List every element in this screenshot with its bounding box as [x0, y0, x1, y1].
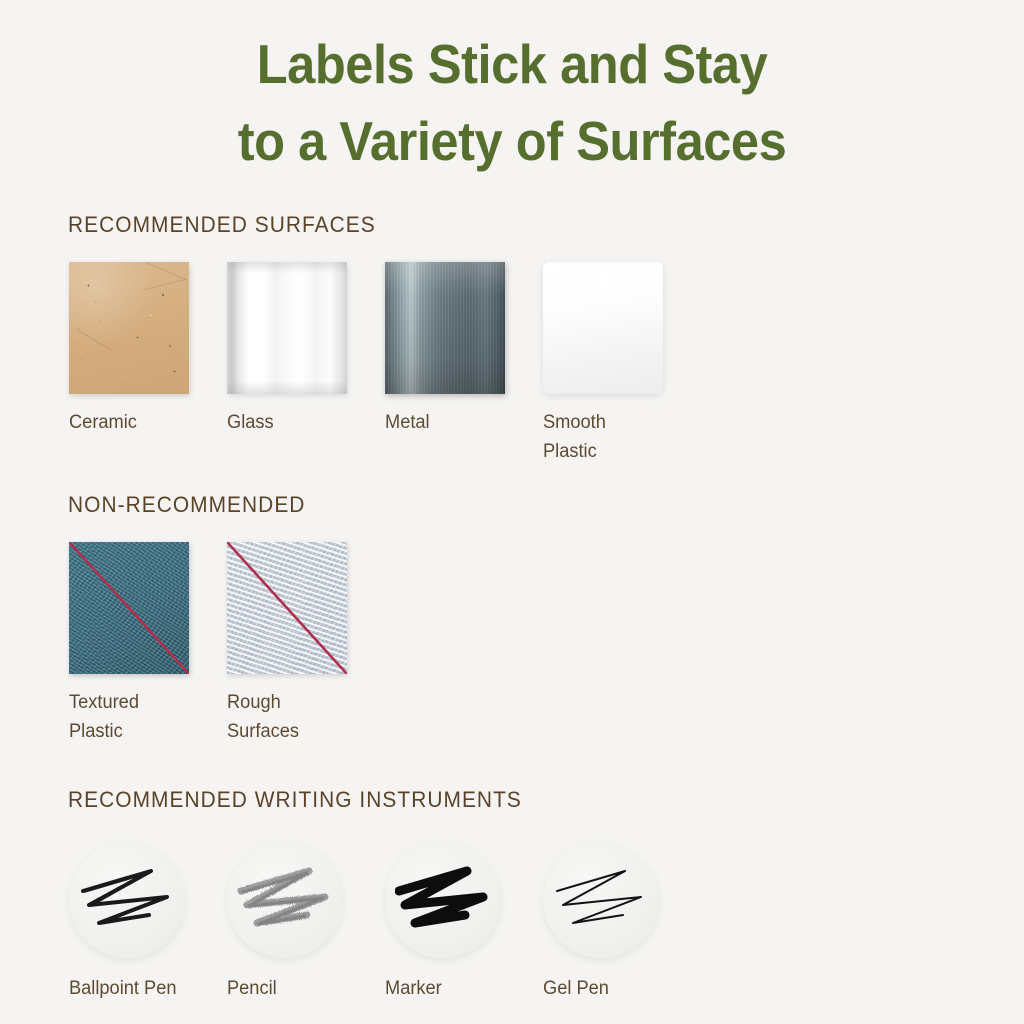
writing-label-pencil: Pencil — [227, 976, 379, 1002]
pencil-disc — [227, 842, 343, 958]
marker-disc — [385, 842, 501, 958]
surface-label-glass: Glass — [227, 408, 379, 437]
non-recommended-row: Textured Plastic Rough Surfaces — [69, 542, 385, 746]
surface-label-metal: Metal — [385, 408, 537, 437]
writing-label-marker: Marker — [385, 976, 537, 1002]
writing-item-pencil: Pencil — [227, 842, 385, 1002]
gel-pen-disc — [543, 842, 659, 958]
textured-plastic-swatch — [69, 542, 189, 674]
glass-swatch — [227, 262, 347, 394]
marker-scribble-icon — [395, 861, 491, 939]
page-title: Labels Stick and Stay to a Variety of Su… — [0, 26, 1024, 180]
writing-item-ballpoint-pen: Ballpoint Pen — [69, 842, 227, 1002]
writing-item-gel-pen: Gel Pen — [543, 842, 701, 1002]
surface-item-glass: Glass — [227, 262, 385, 466]
strike-through-icon — [69, 542, 189, 674]
infographic-page: Labels Stick and Stay to a Variety of Su… — [0, 0, 1024, 1024]
ballpoint-pen-disc — [69, 842, 185, 958]
strike-through-icon — [227, 542, 347, 674]
ceramic-swatch — [69, 262, 189, 394]
metal-swatch — [385, 262, 505, 394]
surface-item-rough-surfaces: Rough Surfaces — [227, 542, 385, 746]
recommended-surfaces-row: Ceramic Glass Metal Smooth Plastic — [69, 262, 701, 466]
section-header-writing-instruments: RECOMMENDED WRITING INSTRUMENTS — [68, 787, 522, 813]
surface-item-metal: Metal — [385, 262, 543, 466]
page-title-line-1: Labels Stick and Stay — [41, 26, 983, 103]
writing-instruments-row: Ballpoint Pen Pencil — [69, 842, 701, 1002]
section-header-non-recommended: NON-RECOMMENDED — [68, 492, 305, 518]
surface-item-smooth-plastic: Smooth Plastic — [543, 262, 701, 466]
surface-item-ceramic: Ceramic — [69, 262, 227, 466]
pencil-scribble-icon — [237, 861, 333, 939]
writing-label-ballpoint-pen: Ballpoint Pen — [69, 976, 221, 1002]
rough-surfaces-swatch — [227, 542, 347, 674]
surface-item-textured-plastic: Textured Plastic — [69, 542, 227, 746]
smooth-plastic-swatch — [543, 262, 663, 394]
gelpen-scribble-icon — [553, 861, 649, 939]
surface-label-ceramic: Ceramic — [69, 408, 221, 437]
surface-label-rough-surfaces: Rough Surfaces — [227, 688, 379, 746]
surface-label-smooth-plastic: Smooth Plastic — [543, 408, 695, 466]
page-title-line-2: to a Variety of Surfaces — [41, 103, 983, 180]
section-header-recommended-surfaces: RECOMMENDED SURFACES — [68, 212, 376, 238]
writing-item-marker: Marker — [385, 842, 543, 1002]
surface-label-textured-plastic: Textured Plastic — [69, 688, 221, 746]
writing-label-gel-pen: Gel Pen — [543, 976, 695, 1002]
ballpoint-scribble-icon — [79, 861, 175, 939]
